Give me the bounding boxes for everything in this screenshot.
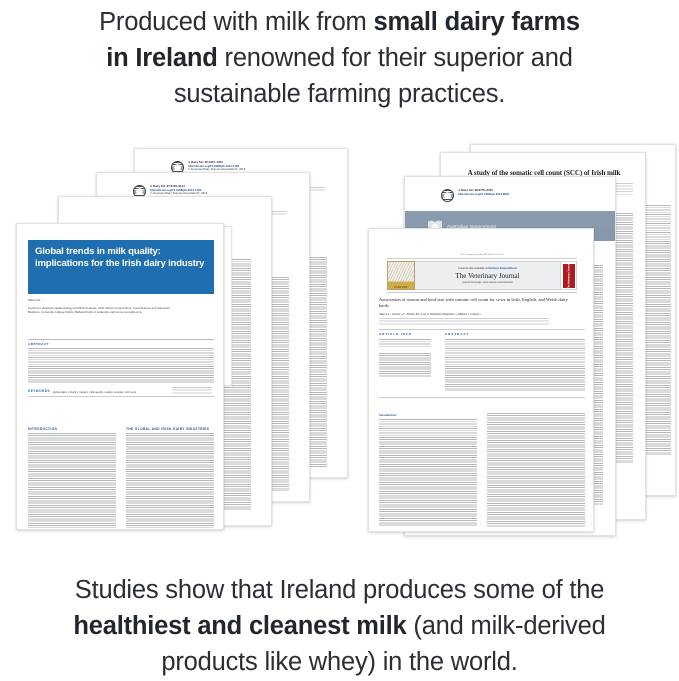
- contents-available-line: Contents lists available at SciVerse Sci…: [458, 267, 517, 270]
- divider: [387, 258, 577, 259]
- abstract-label: ABSTRACT: [445, 332, 470, 336]
- headline-top-line-2: in Ireland renowned for their superior a…: [0, 40, 679, 76]
- headline-top-line-1-bold: small dairy farms: [373, 8, 579, 36]
- paper-author: Marie Sol: [28, 298, 40, 302]
- keywords-label: KEYWORDS: [28, 389, 50, 393]
- headline-bottom: Studies show that Ireland produces some …: [0, 572, 679, 680]
- article-info-label: ARTICLE INFO: [379, 332, 412, 336]
- paper-global-trends-milk-quality: Global trends in milk quality: implicati…: [16, 223, 224, 530]
- abstract-label: ABSTRACT: [28, 342, 49, 346]
- journal-masthead-center: Contents lists available at SciVerse Sci…: [415, 261, 560, 290]
- headline-top: Produced with milk from small dairy farm…: [0, 4, 679, 112]
- section-body-dairy-industries: [126, 433, 214, 528]
- section-heading-dairy-industries: THE GLOBAL AND IRISH DAIRY INDUSTRIES: [126, 427, 209, 431]
- article-affiliations: [379, 318, 549, 325]
- paper-veterinary-journal: The Veterinary Journal 198 (2013) 101–10…: [368, 228, 594, 532]
- journal-citation: J. Dairy Sci. 97:3126–3144 http://dx.doi…: [150, 185, 208, 196]
- headline-bottom-line-3: products like whey) in the world.: [0, 644, 679, 680]
- divider: [28, 396, 214, 397]
- sciencedirect-link[interactable]: SciVerse ScienceDirect: [488, 267, 517, 270]
- journal-citation-line-2: http://dx.doi.org/10.3168/jds.2014-8901: [458, 193, 509, 197]
- headline-top-line-3: sustainable farming practices.: [0, 76, 679, 112]
- journal-name: The Veterinary Journal: [455, 272, 519, 280]
- journal-homepage-url[interactable]: journal homepage: www.elsevier.com/locat…: [462, 281, 512, 284]
- headline-bottom-line-2-bold: healthiest and cleanest milk: [73, 612, 406, 640]
- divider: [387, 292, 577, 293]
- section-body-column-right: [487, 413, 585, 527]
- journal-cover-thumbnail: The Veterinary Journal: [560, 261, 577, 290]
- paper-affiliation: Centre for Veterinary Epidemiology and R…: [28, 306, 178, 315]
- adsa-globe-icon: [441, 189, 454, 202]
- headline-bottom-line-1: Studies show that Ireland produces some …: [0, 572, 679, 608]
- title-band: Global trends in milk quality: implicati…: [28, 240, 214, 294]
- headline-top-line-1-plain: Produced with milk from: [99, 8, 373, 36]
- elsevier-wordmark: ELSEVIER: [388, 286, 414, 289]
- keywords-side-note: [172, 387, 212, 394]
- journal-issn-line: The Veterinary Journal 198 (2013) 101–10…: [369, 253, 594, 256]
- section-heading-introduction: Introduction: [379, 413, 397, 417]
- headline-bottom-line-2-plain: (and milk-derived: [407, 612, 606, 640]
- journal-cover-label: The Veterinary Journal: [567, 263, 570, 289]
- journal-citation: J. Dairy Sci. 96:1327–1340 http://dx.doi…: [188, 161, 246, 172]
- headline-bottom-line-2: healthiest and cleanest milk (and milk-d…: [0, 608, 679, 644]
- section-body-column-left: [379, 419, 477, 527]
- contents-available-text: Contents lists available at: [458, 267, 488, 270]
- abstract-body: [28, 348, 214, 384]
- article-authors: Simon C. Archer a,*, Finola Mc Coy b, We…: [379, 312, 575, 316]
- elsevier-logo-icon: ELSEVIER: [387, 261, 415, 290]
- journal-masthead: J. Dairy Sci. 98:3776–3790 http://dx.doi…: [441, 189, 509, 202]
- abstract-body: [445, 339, 585, 391]
- journal-citation: J. Dairy Sci. 98:3776–3790 http://dx.doi…: [458, 189, 509, 196]
- divider: [379, 397, 585, 398]
- article-history-block: [379, 339, 431, 348]
- divider: [28, 339, 214, 340]
- section-heading-introduction: INTRODUCTION: [28, 427, 57, 431]
- journal-cover-art: The Veterinary Journal: [563, 264, 575, 288]
- article-title: Association of season and herd size with…: [379, 297, 575, 310]
- keywords-text: global dairy industry, Ireland, milk qua…: [53, 390, 136, 394]
- headline-top-line-2-plain: renowned for their superior and: [218, 44, 573, 72]
- paper-title: Global trends in milk quality: implicati…: [35, 246, 209, 271]
- section-body-introduction: [28, 433, 116, 528]
- journal-masthead-banner: ELSEVIER Contents lists available at Sci…: [387, 261, 577, 290]
- headline-top-line-2-bold: in Ireland: [106, 44, 217, 72]
- poster-canvas: Produced with milk from small dairy farm…: [0, 0, 679, 681]
- divider: [379, 329, 585, 330]
- headline-top-line-1: Produced with milk from small dairy farm…: [0, 4, 679, 40]
- article-keywords-block: [379, 353, 431, 377]
